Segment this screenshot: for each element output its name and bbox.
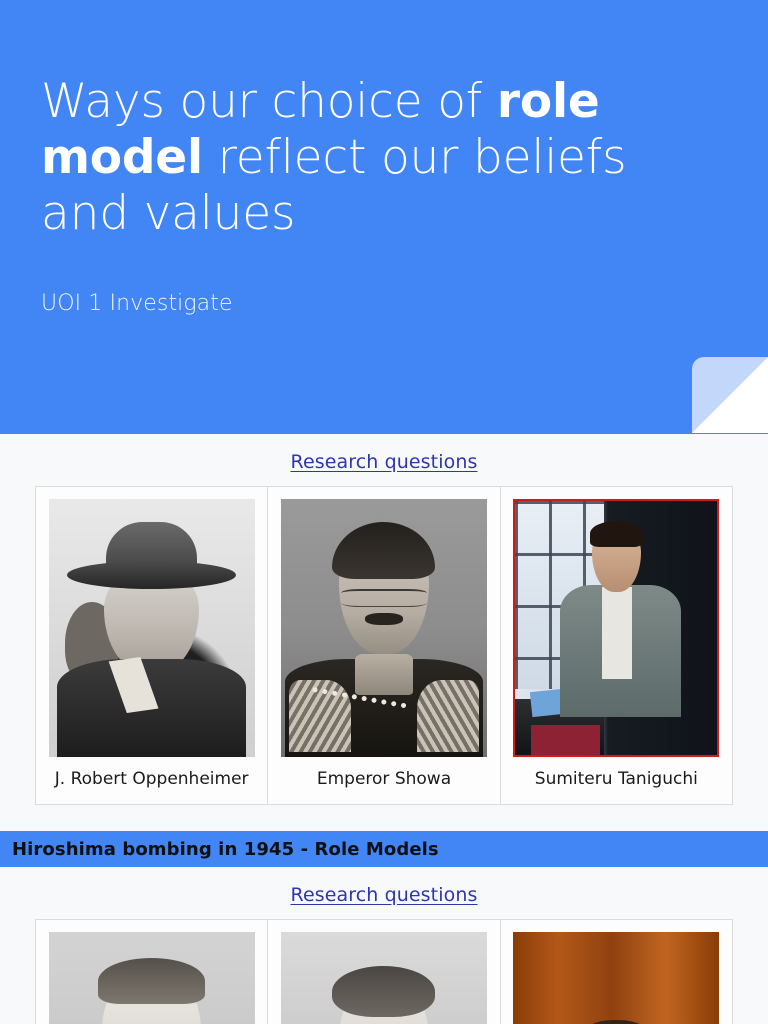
list-item[interactable]: Emperor Showa (268, 487, 500, 804)
list-item[interactable] (36, 920, 268, 1024)
shirt-shape (602, 587, 632, 678)
research-questions-link-wrap-1: Research questions (0, 434, 768, 486)
research-questions-link-wrap-2: Research questions (0, 867, 768, 919)
card-caption: Sumiteru Taniguchi (531, 757, 702, 804)
hair-shape (546, 1020, 686, 1024)
page-title: Ways our choice of role model reflect ou… (41, 74, 661, 242)
section-banner-label: Hiroshima bombing in 1945 - Role Models (12, 839, 439, 860)
card-caption: J. Robert Oppenheimer (51, 757, 253, 804)
hero-subtitle: UOI 1 Investigate (41, 290, 708, 318)
title-segment-1: Ways our choice of (41, 74, 497, 129)
mustache-shape (365, 613, 402, 626)
hair-shape (98, 958, 205, 1004)
research-questions-link-1[interactable]: Research questions (291, 450, 478, 474)
portrait-oppenheimer-image (49, 499, 255, 757)
slide-page: Ways our choice of role model reflect ou… (0, 0, 768, 1024)
list-item[interactable]: Sumiteru Taniguchi (501, 487, 732, 804)
list-item[interactable] (268, 920, 500, 1024)
section-banner: Hiroshima bombing in 1945 - Role Models (0, 831, 768, 867)
portrait-elder-man-glasses-image (49, 932, 255, 1024)
portrait-sumiteru-taniguchi-art (515, 501, 717, 755)
card-caption: Emperor Showa (313, 757, 455, 804)
portrait-woman-wood-background-image (513, 932, 719, 1024)
hero-title-slide: Ways our choice of role model reflect ou… (0, 0, 768, 434)
hair-shape (332, 966, 435, 1018)
page-fold-icon (692, 357, 768, 433)
hat-brim-shape (67, 561, 236, 589)
card-grid-top: J. Robert Oppenheimer (35, 486, 733, 805)
epaulette-right-shape (417, 680, 479, 752)
portrait-emperor-showa-image (281, 499, 487, 757)
hair-shape (332, 522, 435, 579)
hero-content: Ways our choice of role model reflect ou… (0, 0, 768, 318)
research-questions-link-2[interactable]: Research questions (291, 883, 478, 907)
collar-shape (355, 654, 413, 695)
portrait-sumiteru-taniguchi-image (513, 499, 719, 757)
portrait-man-smiling-image (281, 932, 487, 1024)
card-grid-bottom (35, 919, 733, 1024)
list-item[interactable] (501, 920, 732, 1024)
red-cloth-shape (531, 725, 600, 755)
portrait-woman-wood-background-art (513, 932, 719, 1024)
hair-shape (590, 521, 643, 546)
list-item[interactable]: J. Robert Oppenheimer (36, 487, 268, 804)
section-role-models-top: Research questions J. Robert Oppenheimer (0, 434, 768, 805)
section-role-models-bottom: Research questions (0, 867, 768, 1024)
portrait-man-smiling-art (281, 932, 487, 1024)
glasses-shape (341, 589, 428, 607)
portrait-elder-man-glasses-art (49, 932, 255, 1024)
portrait-emperor-showa-art (281, 499, 487, 757)
portrait-oppenheimer-art (49, 499, 255, 757)
